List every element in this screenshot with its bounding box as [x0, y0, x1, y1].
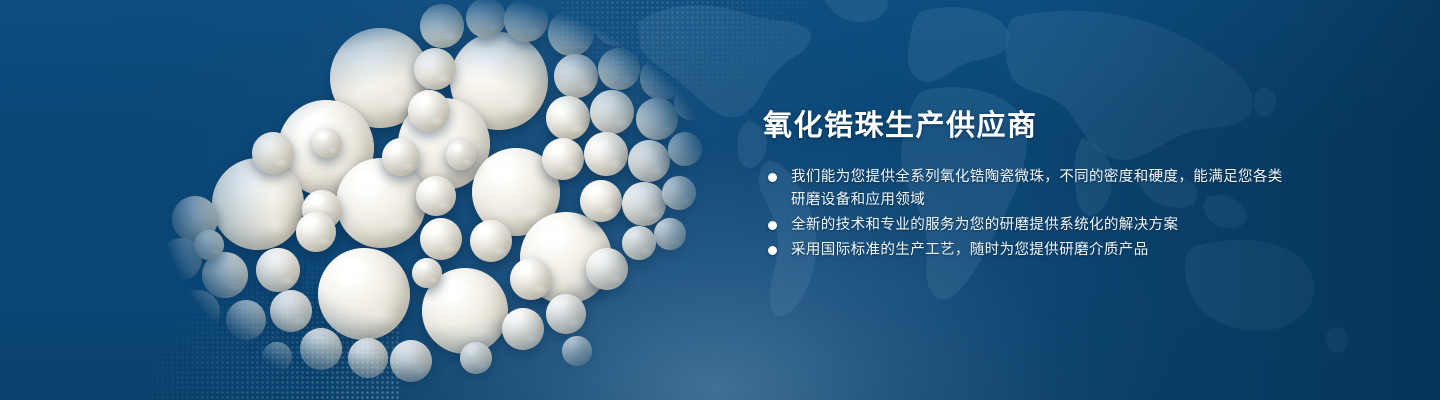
list-item: 我们能为您提供全系列氧化锆陶瓷微珠，不同的密度和硬度，能满足您各类研磨设备和应用… — [763, 166, 1283, 212]
list-item: 全新的技术和专业的服务为您的研磨提供系统化的解决方案 — [763, 214, 1283, 237]
banner-feature-list: 我们能为您提供全系列氧化锆陶瓷微珠，不同的密度和硬度，能满足您各类研磨设备和应用… — [763, 166, 1283, 262]
bullet-dot-icon — [768, 173, 777, 182]
banner-headline: 氧化锆珠生产供应商 — [763, 108, 1283, 144]
bullet-dot-icon — [768, 221, 777, 230]
zirconia-beads-image — [150, 0, 730, 400]
hero-banner: 氧化锆珠生产供应商 我们能为您提供全系列氧化锆陶瓷微珠，不同的密度和硬度，能满足… — [0, 0, 1440, 400]
bullet-dot-icon — [768, 246, 777, 255]
list-item-text: 采用国际标准的生产工艺，随时为您提供研磨介质产品 — [791, 239, 1283, 262]
banner-copy: 氧化锆珠生产供应商 我们能为您提供全系列氧化锆陶瓷微珠，不同的密度和硬度，能满足… — [763, 108, 1283, 264]
list-item-text: 我们能为您提供全系列氧化锆陶瓷微珠，不同的密度和硬度，能满足您各类研磨设备和应用… — [791, 166, 1283, 212]
list-item-text: 全新的技术和专业的服务为您的研磨提供系统化的解决方案 — [791, 214, 1283, 237]
list-item: 采用国际标准的生产工艺，随时为您提供研磨介质产品 — [763, 239, 1283, 262]
